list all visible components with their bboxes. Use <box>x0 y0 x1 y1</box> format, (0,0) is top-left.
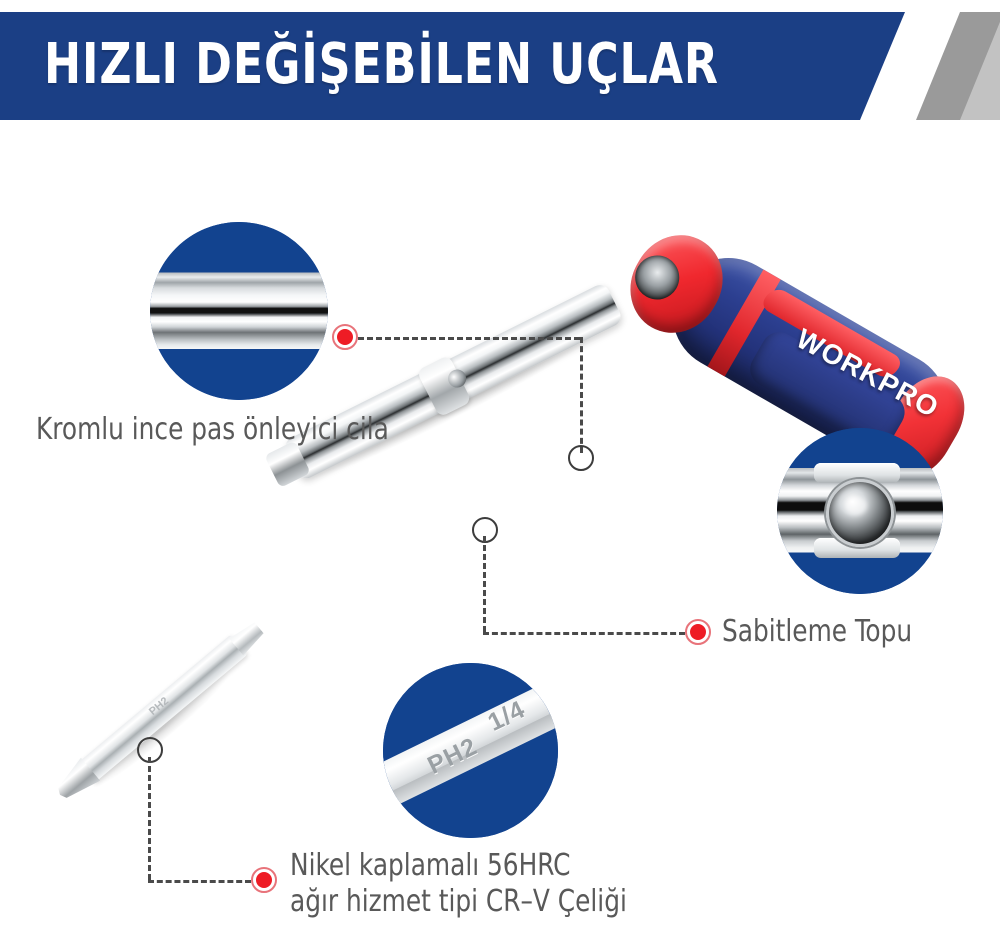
caption-bit-line2: ağır hizmet tipi CR–V Çeliği <box>290 884 627 921</box>
leader-line-polish-vertical <box>580 337 583 453</box>
leader-line-polish-horizontal <box>358 337 580 340</box>
bit-shadow <box>86 665 237 796</box>
callout-marker-polish[interactable] <box>332 324 358 350</box>
header-banner: HIZLI DEĞİŞEBİLEN UÇLAR <box>0 12 1000 120</box>
caption-ball: Sabitleme Topu <box>722 614 912 651</box>
screwdriver-handle: WORKPRO <box>660 178 980 448</box>
hotspot-polish <box>568 445 594 471</box>
leader-line-ball-vertical <box>483 536 486 632</box>
callout-circle-polish <box>150 222 328 400</box>
double-ended-bit: PH2 <box>78 634 248 782</box>
leader-line-ball-horizontal <box>483 632 685 635</box>
callout-marker-ball[interactable] <box>685 619 711 645</box>
callout-marker-bit[interactable] <box>251 867 277 893</box>
caption-polish: Kromlu ince pas önleyici cila <box>36 412 389 449</box>
leader-line-bit-horizontal <box>148 880 251 883</box>
leader-line-bit-vertical <box>148 757 151 880</box>
ball-detent-icon <box>826 479 894 547</box>
detent-ball-closeup <box>777 428 943 594</box>
callout-circle-bit: PH2 1/4 <box>383 663 558 838</box>
chrome-shaft-closeup <box>150 222 328 400</box>
bit-engraving-closeup: PH2 1/4 <box>383 663 558 838</box>
caption-bit-line1: Nikel kaplamalı 56HRC <box>290 848 571 885</box>
callout-circle-ball <box>777 428 943 594</box>
page-title: HIZLI DEĞİŞEBİLEN UÇLAR <box>44 32 719 97</box>
